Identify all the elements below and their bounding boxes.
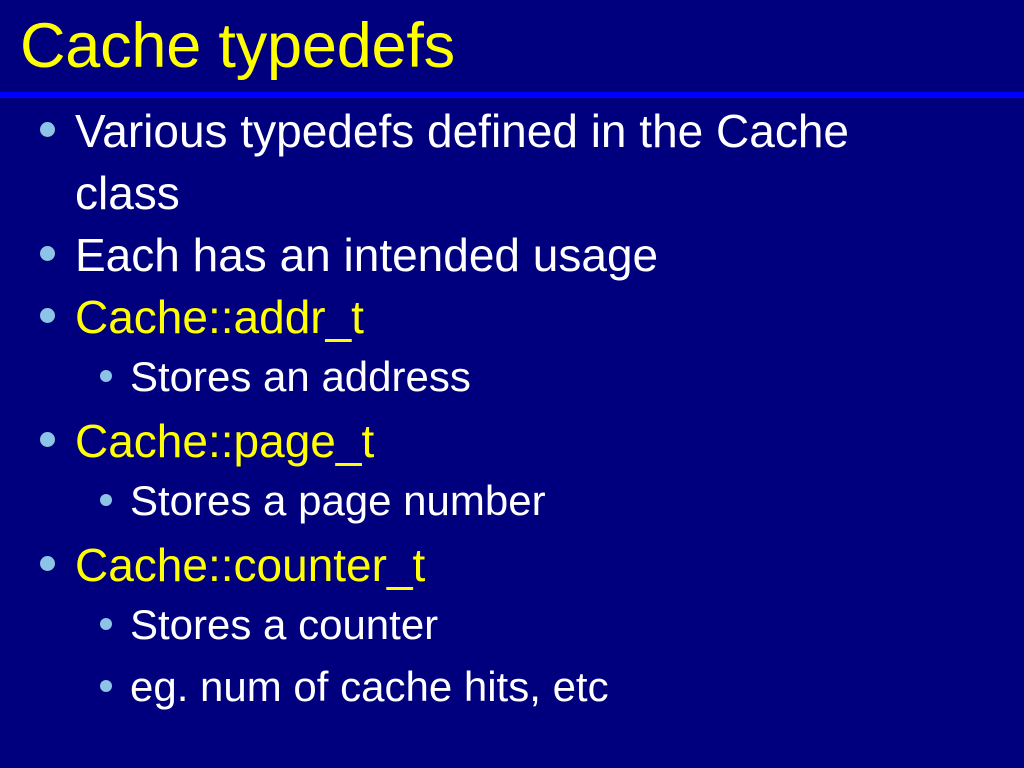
slide-title: Cache typedefs bbox=[20, 2, 455, 90]
sub-bullet-item: Stores a counter bbox=[0, 596, 1024, 658]
sub-bullet-text: eg. num of cache hits, etc bbox=[130, 658, 609, 716]
sub-bullet-dot-icon bbox=[100, 494, 112, 506]
sub-bullet-text: Stores a page number bbox=[130, 472, 546, 530]
bullet-dot-icon bbox=[40, 432, 55, 447]
bullet-item: Cache::page_t bbox=[0, 410, 1024, 472]
bullet-item: Cache::counter_t bbox=[0, 534, 1024, 596]
bullet-dot-icon bbox=[40, 122, 55, 137]
bullet-text-typename: Cache::addr_t bbox=[75, 286, 364, 348]
bullet-item: Cache::addr_t bbox=[0, 286, 1024, 348]
sub-bullet-item: eg. num of cache hits, etc bbox=[0, 658, 1024, 720]
bullet-text-wrap: class bbox=[0, 162, 1024, 224]
bullet-text-typename: Cache::counter_t bbox=[75, 534, 425, 596]
sub-bullet-item: Stores an address bbox=[0, 348, 1024, 410]
bullet-item: Various typedefs defined in the Cache bbox=[0, 100, 1024, 162]
bullet-item: Each has an intended usage bbox=[0, 224, 1024, 286]
bullet-dot-icon bbox=[40, 308, 55, 323]
sub-bullet-item: Stores a page number bbox=[0, 472, 1024, 534]
bullet-text: Each has an intended usage bbox=[75, 224, 658, 286]
slide-title-area: Cache typedefs bbox=[0, 0, 1024, 92]
sub-bullet-text: Stores a counter bbox=[130, 596, 438, 654]
slide-body: Various typedefs defined in the Cache cl… bbox=[0, 100, 1024, 768]
presentation-slide: Cache typedefs Various typedefs defined … bbox=[0, 0, 1024, 768]
title-divider bbox=[0, 92, 1024, 98]
bullet-text: Various typedefs defined in the Cache bbox=[75, 100, 849, 162]
sub-bullet-text: Stores an address bbox=[130, 348, 471, 406]
bullet-dot-icon bbox=[40, 556, 55, 571]
bullet-text-typename: Cache::page_t bbox=[75, 410, 374, 472]
bullet-dot-icon bbox=[40, 246, 55, 261]
sub-bullet-dot-icon bbox=[100, 370, 112, 382]
sub-bullet-dot-icon bbox=[100, 680, 112, 692]
sub-bullet-dot-icon bbox=[100, 618, 112, 630]
